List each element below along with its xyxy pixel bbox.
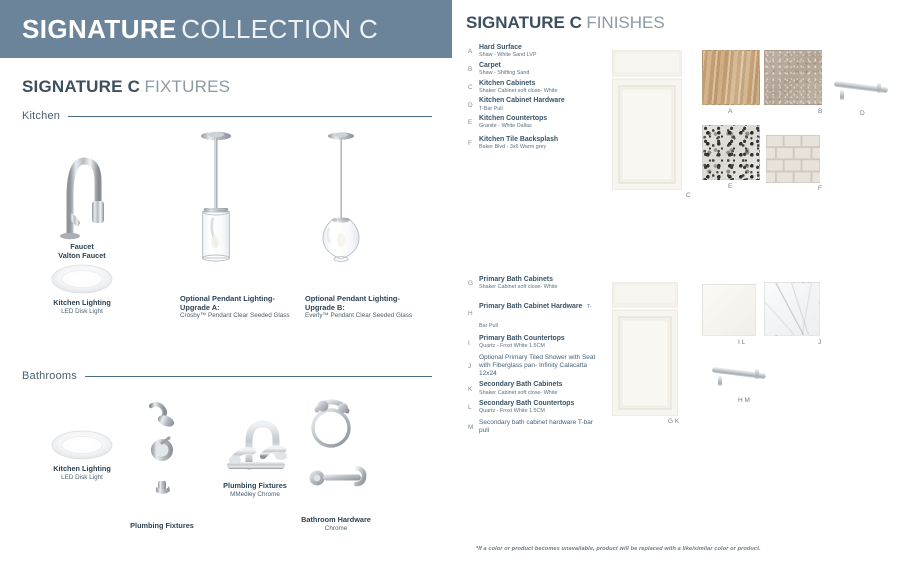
kitchen-section-label: Kitchen [22, 110, 68, 122]
legend-letter: L [468, 403, 479, 411]
legend-name: Primary Bath Cabinet Hardware [479, 303, 582, 310]
figure-bath-lighting: Kitchen Lighting LED Disk Light [45, 428, 119, 482]
divider-line [68, 116, 432, 117]
figure-kitchen-faucet: Faucet Valton Faucet [47, 135, 117, 261]
legend-letter: K [468, 385, 479, 393]
shaker-cabinet-door-image [612, 282, 678, 416]
caption-desc: Chrome [298, 525, 374, 533]
calacatta-marble-image [764, 282, 820, 336]
swatch-group-2: G K I L J [602, 272, 900, 442]
caption-desc: Valton Faucet [47, 252, 117, 261]
legend-text: Secondary bath cabinet hardware T-bar pu… [479, 419, 600, 435]
legend-name: Kitchen Cabinets [479, 80, 600, 88]
caption-name: Bathroom Hardware [298, 516, 374, 525]
shaker-cabinet-door-image [612, 50, 682, 190]
caption-desc: LED Disk Light [45, 474, 119, 482]
legend-letter: B [468, 65, 479, 73]
swatch-letter: J [818, 339, 821, 346]
finishes-heading-bold: SIGNATURE C [466, 13, 582, 32]
figure-kitchen-lighting: Kitchen Lighting LED Disk Light [45, 262, 119, 316]
legend-letter: J [468, 362, 479, 370]
legend-text: Kitchen Tile Backsplash Baker Blvd - 3x6… [479, 136, 600, 151]
bathrooms-section-label: Bathrooms [22, 370, 85, 382]
finishes-legend-group-1: A Hard Surface Shaw - White Sand LVP B C… [468, 44, 600, 154]
swatch-letter: H M [738, 397, 750, 404]
disk-light-icon [51, 262, 113, 296]
legend-text: Primary Bath Cabinet Hardware T-Bar Pull [479, 294, 600, 332]
swatch-group-1: C A B [602, 40, 900, 240]
legend-item: F Kitchen Tile Backsplash Baker Blvd - 3… [468, 136, 600, 151]
fixtures-heading-bold: SIGNATURE C [22, 77, 140, 96]
legend-desc: Shaker Cabinet soft close- White [479, 88, 600, 94]
figure-caption: Bathroom Hardware Chrome [298, 516, 374, 533]
legend-text: Hard Surface Shaw - White Sand LVP [479, 44, 600, 59]
swatch-letter: D [860, 110, 865, 117]
legend-name: Hard Surface [479, 44, 600, 52]
legend-item: L Secondary Bath Countertops Quartz - Fr… [468, 400, 600, 415]
legend-desc: T-Bar Pull [479, 106, 600, 112]
legend-item: E Kitchen Countertops Granite - White Da… [468, 115, 600, 130]
swatch-tile-f: F [766, 135, 820, 188]
caption-name: Kitchen Lighting [45, 299, 119, 308]
legend-text: Primary Bath Countertops Quartz - Frost … [479, 335, 600, 350]
legend-name: Kitchen Tile Backsplash [479, 136, 600, 144]
legend-letter: G [468, 279, 479, 287]
bathrooms-section-divider: Bathrooms [22, 370, 432, 382]
caption-name: Plumbing Fixtures [212, 482, 298, 491]
legend-text: Carpet Shaw - Shifting Sand [479, 62, 600, 77]
legend-desc: Shaker Cabinet soft close- White [479, 390, 600, 396]
legend-desc: Shaker Cabinet soft close- White [479, 284, 600, 290]
banner-title: SIGNATURE COLLECTION C [0, 14, 378, 45]
legend-text: Secondary Bath Cabinets Shaker Cabinet s… [479, 381, 600, 396]
legend-text: Kitchen Cabinets Shaker Cabinet soft clo… [479, 80, 600, 95]
finishes-legend-group-2: G Primary Bath Cabinets Shaker Cabinet s… [468, 276, 600, 437]
kitchen-section-divider: Kitchen [22, 110, 432, 122]
legend-desc: Quartz - Frost White 1.5CM [479, 343, 600, 349]
disclaimer-footnote: *If a color or product becomes unavailab… [476, 546, 761, 552]
legend-name: Kitchen Countertops [479, 115, 600, 123]
fixtures-heading-light: FIXTURES [145, 77, 231, 96]
granite-image [702, 125, 760, 180]
swatch-letter: C [686, 192, 691, 199]
legend-item: G Primary Bath Cabinets Shaker Cabinet s… [468, 276, 600, 291]
fixtures-panel: SIGNATURE COLLECTION C SIGNATURE C FIXTU… [0, 0, 452, 564]
legend-name: Optional Primary Tiled Shower with Seat … [479, 354, 600, 377]
caption-name: Kitchen Lighting [45, 465, 119, 474]
quartz-image [702, 284, 756, 336]
swatch-letter: F [818, 185, 822, 192]
legend-letter: E [468, 118, 479, 126]
figure-caption: Optional Pendant Lighting- Upgrade A: Cr… [180, 294, 300, 320]
caption-name: Optional Pendant Lighting- Upgrade A: [180, 294, 300, 312]
caption-desc: Crosby™ Pendant Clear Seeded Glass [180, 312, 300, 320]
swatch-cabinet-door-c: C [612, 50, 682, 195]
caption-name: Optional Pendant Lighting- Upgrade B: [305, 294, 425, 312]
legend-item: K Secondary Bath Cabinets Shaker Cabinet… [468, 381, 600, 396]
finishes-heading-light: FINISHES [586, 13, 664, 32]
legend-item: I Primary Bath Countertops Quartz - Fros… [468, 335, 600, 350]
swatch-cabinet-door-gk: G K [612, 282, 678, 421]
figure-bathroom-hardware: Bathroom Hardware Chrome [298, 396, 374, 533]
bell-pendant-icon [311, 130, 371, 280]
figure-caption: Faucet Valton Faucet [47, 243, 117, 261]
swatch-marble-j: J [764, 282, 820, 336]
swatch-letter: I L [738, 339, 745, 346]
figure-caption: Plumbing Fixtures MMedley Chrome [212, 482, 298, 499]
legend-letter: F [468, 139, 479, 147]
swatch-carpet-b: B [764, 50, 822, 105]
swatch-letter: G K [668, 418, 679, 425]
swatch-letter: E [728, 183, 732, 190]
swatch-letter: A [728, 108, 732, 115]
figure-caption: Optional Pendant Lighting- Upgrade B: Ev… [305, 294, 425, 320]
legend-text: Kitchen Countertops Granite - White Dall… [479, 115, 600, 130]
towel-ring-icon [301, 396, 371, 508]
legend-letter: I [468, 339, 479, 347]
caption-name: Plumbing Fixtures [130, 522, 194, 531]
figure-plumbing-lav-faucet: Plumbing Fixtures MMedley Chrome [212, 408, 298, 499]
caption-desc: MMedley Chrome [212, 491, 298, 499]
legend-letter: A [468, 47, 479, 55]
lavatory-faucet-icon [219, 408, 291, 478]
legend-item: A Hard Surface Shaw - White Sand LVP [468, 44, 600, 59]
legend-letter: C [468, 83, 479, 91]
legend-name: Carpet [479, 62, 600, 70]
legend-text: Kitchen Cabinet Hardware T-Bar Pull [479, 97, 600, 112]
legend-item: M Secondary bath cabinet hardware T-bar … [468, 419, 600, 435]
swatch-pull-hm: H M [708, 364, 770, 399]
figure-pendant-upgrade-a: Optional Pendant Lighting- Upgrade A: Cr… [180, 130, 300, 320]
legend-letter: H [468, 309, 479, 317]
swatch-lvp-a: A [702, 50, 760, 105]
legend-desc: Quartz - Frost White 1.5CM [479, 408, 600, 414]
cylinder-pendant-icon [186, 130, 246, 280]
legend-name: Secondary Bath Cabinets [479, 381, 600, 389]
legend-item: J Optional Primary Tiled Shower with Sea… [468, 354, 600, 377]
fixtures-heading: SIGNATURE C FIXTURES [22, 77, 230, 97]
wood-lvp-image [702, 50, 760, 105]
legend-desc: Shaw - White Sand LVP [479, 52, 600, 58]
figure-pendant-upgrade-b: Optional Pendant Lighting- Upgrade B: Ev… [305, 130, 425, 320]
legend-text: Optional Primary Tiled Shower with Seat … [479, 354, 600, 377]
legend-item: D Kitchen Cabinet Hardware T-Bar Pull [468, 97, 600, 112]
disk-light-icon [51, 428, 113, 462]
legend-text: Primary Bath Cabinets Shaker Cabinet sof… [479, 276, 600, 291]
legend-item: C Kitchen Cabinets Shaker Cabinet soft c… [468, 80, 600, 95]
figure-caption: Kitchen Lighting LED Disk Light [45, 299, 119, 316]
swatch-letter: B [818, 108, 822, 115]
caption-desc: Everly™ Pendant Clear Seeded Glass [305, 312, 425, 320]
figure-caption: Kitchen Lighting LED Disk Light [45, 465, 119, 482]
subway-tile-image [766, 135, 820, 183]
finishes-heading: SIGNATURE C FINISHES [466, 13, 665, 33]
legend-name: Primary Bath Countertops [479, 335, 600, 343]
figure-plumbing-shower: Plumbing Fixtures [130, 396, 194, 531]
legend-name: Secondary bath cabinet hardware T-bar pu… [479, 419, 600, 435]
legend-name: Secondary Bath Countertops [479, 400, 600, 408]
legend-letter: M [468, 423, 479, 431]
banner-title-bold: SIGNATURE [22, 14, 177, 44]
legend-desc: Baker Blvd - 3x6 Warm grey [479, 144, 600, 150]
legend-desc: Granite - White Dallas [479, 123, 600, 129]
legend-name: Primary Bath Cabinets [479, 276, 600, 284]
kitchen-faucet-icon [54, 135, 110, 240]
swatch-granite-e: E [702, 125, 760, 180]
t-bar-pull-image [708, 364, 770, 394]
page-banner: SIGNATURE COLLECTION C [0, 0, 452, 58]
legend-name: Kitchen Cabinet Hardware [479, 97, 600, 105]
finishes-panel: SIGNATURE C FINISHES A Hard Surface Shaw… [462, 0, 900, 564]
caption-desc: LED Disk Light [45, 308, 119, 316]
t-bar-pull-image [830, 78, 892, 108]
divider-line [85, 376, 432, 377]
legend-desc: Shaw - Shifting Sand [479, 70, 600, 76]
legend-text: Secondary Bath Countertops Quartz - Fros… [479, 400, 600, 415]
collection-spec-sheet: SIGNATURE COLLECTION C SIGNATURE C FIXTU… [0, 0, 900, 564]
legend-item: B Carpet Shaw - Shifting Sand [468, 62, 600, 77]
figure-caption: Plumbing Fixtures [130, 522, 194, 531]
legend-letter: D [468, 101, 479, 109]
banner-title-light: COLLECTION C [181, 14, 378, 44]
shower-trim-icon [137, 396, 187, 506]
swatch-pull-d: D [830, 78, 892, 113]
carpet-image [764, 50, 822, 105]
swatch-quartz-il: I L [702, 284, 756, 336]
legend-item: H Primary Bath Cabinet Hardware T-Bar Pu… [468, 294, 600, 332]
